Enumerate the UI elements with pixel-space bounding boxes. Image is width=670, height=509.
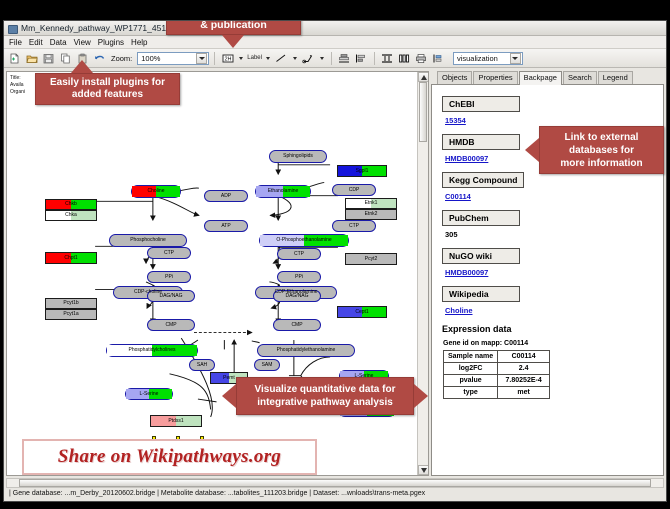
- callout-plugins-arrow-icon: [71, 60, 93, 73]
- metabolite-phosphatidylethanolamine[interactable]: Phosphatidylethanolamine: [257, 344, 355, 357]
- layout-icon[interactable]: [431, 51, 446, 66]
- table-cell-value: 7.80252E-4: [498, 375, 550, 387]
- expression-data-title: Expression data: [442, 324, 663, 334]
- node-label: DAG/NAG: [285, 294, 308, 299]
- print-icon[interactable]: [414, 51, 429, 66]
- distribute-horizontal-icon[interactable]: [397, 51, 412, 66]
- menu-item-plugins[interactable]: Plugins: [98, 38, 124, 47]
- canvas-horizontal-scrollbar[interactable]: [6, 478, 664, 488]
- title-bar: Mm_Kennedy_pathway_WP1771_45176.gpml: [4, 21, 666, 36]
- callout-links-line2: databases for: [569, 144, 634, 157]
- node-label: CTP: [164, 251, 174, 256]
- zoom-combobox[interactable]: 100%: [137, 52, 209, 65]
- node-label: Pcyt1a: [63, 312, 78, 317]
- table-row: pvalue7.80252E-4: [444, 375, 550, 387]
- table-cell-value: C00114: [498, 351, 550, 363]
- gene-ptdss1[interactable]: Ptdss1: [150, 415, 202, 427]
- backpage-value-wikipedia[interactable]: Choline: [445, 306, 663, 315]
- gene-etnk1[interactable]: Etnk1: [345, 198, 397, 209]
- side-panel-tabs: ObjectsPropertiesBackpageSearchLegend: [431, 71, 664, 85]
- node-label: Pcyt2: [365, 257, 378, 262]
- gene-etnk2[interactable]: Etnk2: [345, 209, 397, 220]
- metabolite-ctp-right[interactable]: CTP: [332, 220, 376, 232]
- node-label: Phosphatidylethanolamine: [277, 348, 336, 353]
- metabolite-l-serine-left[interactable]: L-Serine: [125, 388, 173, 400]
- menu-item-edit[interactable]: Edit: [29, 38, 43, 47]
- backpage-header-wikipedia: Wikipedia: [442, 286, 520, 302]
- table-cell-key: log2FC: [444, 363, 498, 375]
- metabolite-ppi[interactable]: PPi: [147, 271, 191, 283]
- node-label: Etnk2: [365, 212, 378, 217]
- metabolite-cmp2[interactable]: CMP: [273, 319, 321, 331]
- menu-item-file[interactable]: File: [9, 38, 22, 47]
- backpage-value-pubchem: 305: [445, 230, 663, 239]
- undo-icon[interactable]: [92, 51, 107, 66]
- backpage-header-pubchem: PubChem: [442, 210, 520, 226]
- node-label: Phosphocholine: [130, 238, 166, 243]
- gene-cept1[interactable]: Cept1: [337, 306, 387, 318]
- label-chevron-down-icon[interactable]: [264, 51, 272, 66]
- menu-item-data[interactable]: Data: [50, 38, 67, 47]
- line-chevron-down-icon[interactable]: [291, 51, 299, 66]
- gene-pcyt1b[interactable]: Pcyt1b: [45, 298, 97, 309]
- menu-bar: File Edit Data View Plugins Help: [4, 36, 666, 49]
- tab-properties[interactable]: Properties: [473, 71, 517, 84]
- metabolite-atp[interactable]: ATP: [204, 220, 248, 232]
- node-label: O-Phosphoethanolamine: [276, 238, 331, 243]
- gene-chka[interactable]: Chka: [45, 210, 97, 221]
- table-row: Sample nameC00114: [444, 351, 550, 363]
- callout-draw: Draw for presentation & publication: [166, 20, 301, 35]
- table-cell-key: pvalue: [444, 375, 498, 387]
- callout-draw-line2: & publication: [200, 20, 267, 31]
- node-label: CTP: [294, 252, 304, 257]
- tab-legend[interactable]: Legend: [598, 71, 633, 84]
- metabolite-choline-top[interactable]: Choline: [131, 185, 181, 198]
- svg-text:2H: 2H: [224, 56, 231, 62]
- save-disk-icon[interactable]: [41, 51, 56, 66]
- table-cell-value: met: [498, 387, 550, 399]
- metabolite-ppi2[interactable]: PPi: [277, 271, 321, 283]
- menu-item-view[interactable]: View: [74, 38, 91, 47]
- callout-links: Link to external databases for more info…: [539, 126, 664, 174]
- callout-share: Share on Wikipathways.org: [22, 439, 317, 475]
- metabolite-phosphocholine[interactable]: Phosphocholine: [109, 234, 187, 247]
- metabolite-ctp[interactable]: CTP: [147, 247, 191, 259]
- meta-organism: Organi: [10, 89, 25, 96]
- node-label: CDP-choline: [134, 290, 162, 295]
- backpage-header-kegg-compound: Kegg Compound: [442, 172, 524, 188]
- node-label: Ptdss1: [168, 419, 183, 424]
- node-label: Sgpl1: [356, 169, 369, 174]
- node-label: Phosphatidylcholines: [129, 348, 176, 353]
- table-cell-key: type: [444, 387, 498, 399]
- callout-links-line1: Link to external: [565, 131, 639, 144]
- zoom-label: Zoom:: [111, 54, 132, 63]
- table-cell-key: Sample name: [444, 351, 498, 363]
- metabolite-sam[interactable]: SAM: [254, 359, 280, 371]
- table-row: log2FC2.4: [444, 363, 550, 375]
- node-label: CMP: [165, 323, 176, 328]
- node-label: ADP: [221, 194, 231, 199]
- gene-pcyt1a[interactable]: Pcyt1a: [45, 309, 97, 320]
- datanode-icon[interactable]: 2H: [220, 51, 235, 66]
- pathway-canvas[interactable]: Title: Availa Organi: [6, 71, 429, 476]
- metabolite-ethanolamine-top[interactable]: Ethanolamine: [255, 185, 311, 198]
- menu-item-help[interactable]: Help: [131, 38, 147, 47]
- visualization-combobox[interactable]: visualization: [453, 52, 523, 65]
- callout-visualize-line1: Visualize quantitative data for: [255, 383, 396, 396]
- meta-availability: Availa: [10, 82, 25, 89]
- node-label: SAM: [262, 363, 273, 368]
- metabolite-cmp[interactable]: CMP: [147, 319, 195, 331]
- node-label: CDP: [349, 188, 360, 193]
- backpage-header-nugo-wiki: NuGO wiki: [442, 248, 520, 264]
- node-label: CTP: [349, 224, 359, 229]
- node-label: Chkb: [65, 202, 77, 207]
- visualization-value: visualization: [457, 54, 498, 63]
- table-row: typemet: [444, 387, 550, 399]
- metabolite-sphingolipids[interactable]: Sphingolipids: [269, 150, 327, 163]
- toolbar-separator: [214, 52, 215, 65]
- backpage-value-nugo-wiki[interactable]: HMDB00097: [445, 268, 663, 277]
- align-left-icon[interactable]: [354, 51, 369, 66]
- backpage-header-hmdb: HMDB: [442, 134, 520, 150]
- distribute-vertical-icon[interactable]: [380, 51, 395, 66]
- metabolite-adp[interactable]: ADP: [204, 190, 248, 202]
- node-label: Chpt1: [64, 256, 77, 261]
- callout-plugins: Easily install plugins for added feature…: [35, 73, 180, 105]
- label-tool-label[interactable]: Label: [247, 55, 262, 61]
- gene-pcyt2[interactable]: Pcyt2: [345, 253, 397, 265]
- callout-plugins-line1: Easily install plugins for: [50, 77, 165, 89]
- toolbar-separator-2: [331, 52, 332, 65]
- table-cell-value: 2.4: [498, 363, 550, 375]
- metabolite-sah[interactable]: SAH: [189, 359, 215, 371]
- canvas-hscroll-thumb[interactable]: [19, 479, 651, 487]
- tab-backpage[interactable]: Backpage: [519, 71, 562, 85]
- callout-visualize-line2: integrative pathway analysis: [257, 396, 393, 409]
- node-label: SAH: [197, 363, 207, 368]
- backpage-header-chebi: ChEBI: [442, 96, 520, 112]
- node-label: DAG/NAG: [159, 294, 182, 299]
- toolbar: Zoom: 100% 2H Label: [4, 49, 666, 68]
- backpage-value-kegg-compound[interactable]: C00114: [445, 192, 663, 201]
- node-label: Ethanolamine: [268, 189, 299, 194]
- open-folder-icon[interactable]: [24, 51, 39, 66]
- node-label: L-Serine: [140, 392, 159, 397]
- metabolite-phosphatidylcholines[interactable]: Phosphatidylcholines: [106, 344, 198, 357]
- node-label: ATP: [221, 224, 230, 229]
- gene-sgpl1[interactable]: Sgpl1: [337, 165, 387, 177]
- node-label: Pemt: [223, 376, 235, 381]
- interaction-chevron-down-icon[interactable]: [318, 51, 326, 66]
- scroll-up-icon[interactable]: [418, 72, 429, 82]
- gene-chkb[interactable]: Chkb: [45, 199, 97, 210]
- metabolite-ctp2[interactable]: CTP: [277, 248, 321, 260]
- interaction-tool-icon[interactable]: [301, 51, 316, 66]
- backpage-value-chebi[interactable]: 15354: [445, 116, 663, 125]
- datanode-chevron-down-icon[interactable]: [237, 51, 245, 66]
- status-text: | Gene database: ...m_Derby_20120602.bri…: [9, 490, 425, 497]
- tab-search[interactable]: Search: [563, 71, 597, 84]
- visualization-chevron-down-icon[interactable]: [510, 53, 521, 64]
- callout-draw-arrow-icon: [222, 35, 244, 48]
- toolbar-separator-3: [374, 52, 375, 65]
- scroll-down-icon[interactable]: [418, 465, 429, 475]
- node-label: CMP: [291, 323, 302, 328]
- callout-plugins-line2: added features: [72, 89, 143, 101]
- callout-visualize-arrow-right-icon: [414, 384, 428, 408]
- meta-title: Title:: [10, 75, 25, 82]
- pathway-metadata: Title: Availa Organi: [10, 75, 25, 96]
- node-label: PPi: [165, 275, 173, 280]
- callout-links-line3: more information: [560, 157, 642, 170]
- zoom-chevron-down-icon[interactable]: [196, 53, 207, 64]
- pathvisio-window: Mm_Kennedy_pathway_WP1771_45176.gpml Fil…: [3, 20, 667, 502]
- node-label: Choline: [148, 189, 165, 194]
- node-label: Cept1: [355, 310, 368, 315]
- callout-visualize: Visualize quantitative data for integrat…: [236, 377, 414, 415]
- canvas-vertical-scrollbar[interactable]: [417, 72, 428, 475]
- callout-links-arrow-icon: [525, 138, 539, 162]
- gene-chpt1[interactable]: Chpt1: [45, 252, 97, 264]
- callout-share-text: Share on Wikipathways.org: [58, 446, 281, 468]
- align-center-icon[interactable]: [337, 51, 352, 66]
- node-label: Pcyt1b: [63, 301, 78, 306]
- metabolite-cdp[interactable]: CDP: [332, 184, 376, 196]
- expression-data-table: Sample nameC00114log2FC2.4pvalue7.80252E…: [443, 350, 550, 399]
- node-label: Etnk1: [365, 201, 378, 206]
- tab-objects[interactable]: Objects: [437, 71, 472, 84]
- line-tool-icon[interactable]: [274, 51, 289, 66]
- gene-id-line: Gene id on mapp: C00114: [443, 340, 663, 347]
- new-file-icon[interactable]: [7, 51, 22, 66]
- node-label: Chka: [65, 213, 77, 218]
- status-bar: | Gene database: ...m_Derby_20120602.bri…: [4, 478, 666, 501]
- metabolite-o-phosphoethanolamine[interactable]: O-Phosphoethanolamine: [259, 234, 349, 247]
- node-label: PPi: [295, 275, 303, 280]
- canvas-vscroll-thumb[interactable]: [419, 82, 427, 142]
- zoom-value: 100%: [141, 54, 160, 63]
- pathvisio-icon: [8, 24, 17, 33]
- node-label: Sphingolipids: [283, 154, 313, 159]
- callout-visualize-arrow-left-icon: [222, 384, 236, 408]
